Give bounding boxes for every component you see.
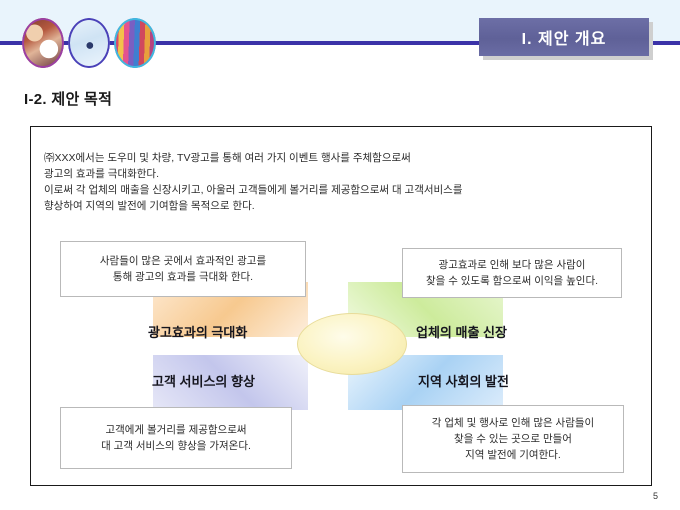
header-badge: I. 제안 개요: [479, 18, 649, 56]
quadrant-label-bottom-right: 지역 사회의 발전: [418, 371, 509, 390]
body-paragraph: ㈜XXX에서는 도우미 및 차량, TV광고를 통해 여러 가지 이벤트 행사를…: [44, 150, 624, 214]
quadrant-label-top-right: 업체의 매출 신장: [416, 322, 507, 341]
callout-box-bottom-right: 각 업체 및 행사로 인해 많은 사람들이 찾을 수 있는 곳으로 만들어 지역…: [402, 405, 624, 473]
callout-box-bottom-left: 고객에게 볼거리를 제공함으로써 대 고객 서비스의 향상을 가져온다.: [60, 407, 292, 469]
quadrant-label-top-left: 광고효과의 극대화: [148, 322, 247, 341]
photo-group-ring: [114, 18, 156, 68]
page-number: 5: [653, 491, 658, 501]
photo-snow-sport-ring: [68, 18, 110, 68]
photo-group-icon: [114, 18, 156, 68]
photo-presenter-ring: [22, 18, 64, 68]
callout-box-top-right: 광고효과로 인해 보다 많은 사람이 찾을 수 있도록 함으로써 이익을 높인다…: [402, 248, 622, 298]
page-title: I-2. 제안 목적: [24, 88, 112, 109]
header-badge-label: I. 제안 개요: [522, 25, 607, 49]
callout-box-top-left: 사람들이 많은 곳에서 효과적인 광고를 통해 광고의 효과를 극대화 한다.: [60, 241, 306, 297]
photo-snow-sport-icon: [68, 18, 110, 68]
photo-presenter-icon: [22, 18, 64, 68]
quadrant-label-bottom-left: 고객 서비스의 향상: [152, 371, 255, 390]
center-ellipse: [297, 313, 407, 375]
